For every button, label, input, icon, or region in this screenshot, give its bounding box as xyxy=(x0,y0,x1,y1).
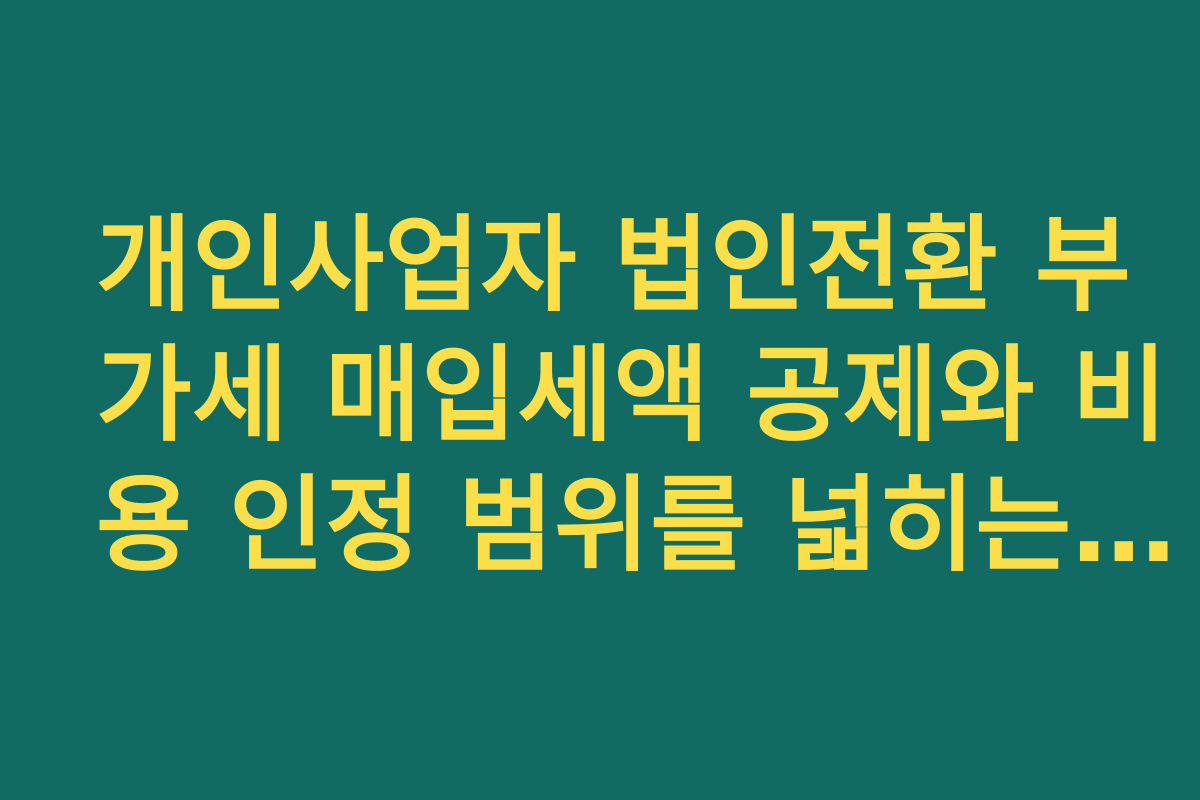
headline-line-1: 개인사업자 법인전환 부 xyxy=(96,200,1136,330)
thumbnail-card: 개인사업자 법인전환 부 가세 매입세액 공제와 비 용 인정 범위를 넓히는… xyxy=(0,0,1200,800)
headline-line-2: 가세 매입세액 공제와 비 xyxy=(96,330,1136,460)
headline-line-3: 용 인정 범위를 넓히는… xyxy=(96,460,1136,590)
headline-block: 개인사업자 법인전환 부 가세 매입세액 공제와 비 용 인정 범위를 넓히는… xyxy=(0,200,1200,590)
